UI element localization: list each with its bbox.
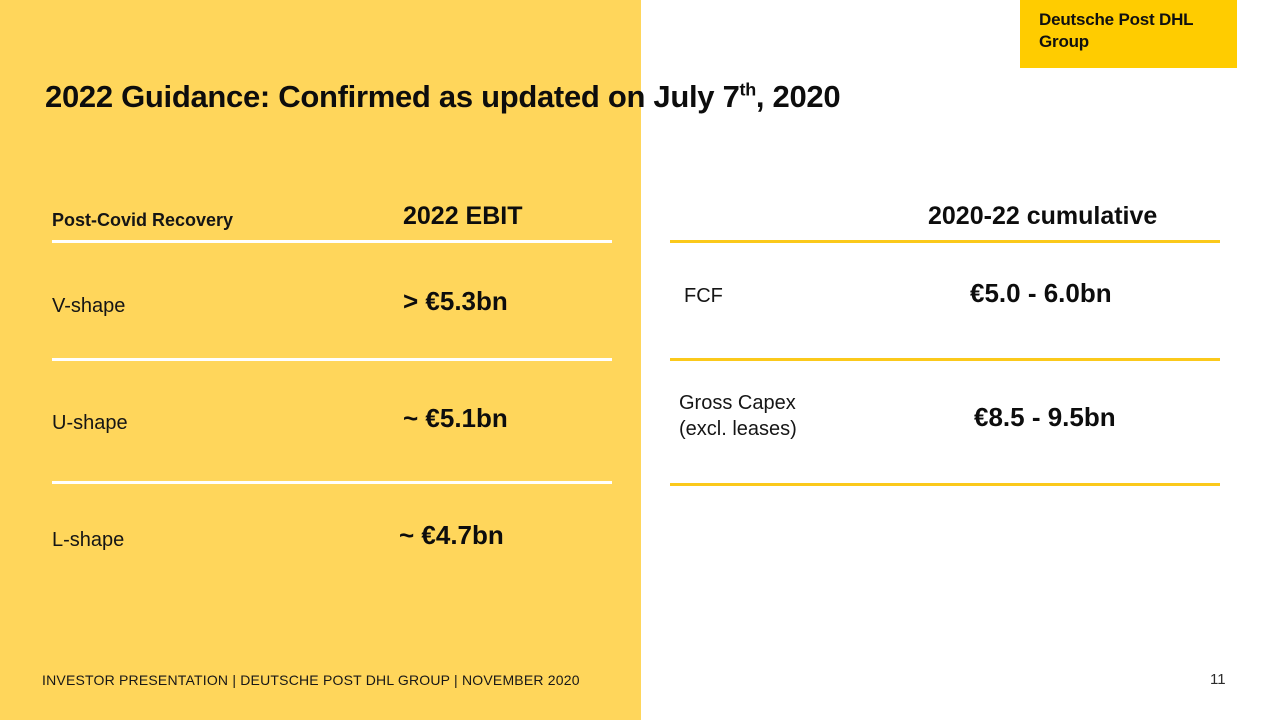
left-divider-1 (52, 481, 612, 484)
footer-text: INVESTOR PRESENTATION | DEUTSCHE POST DH… (42, 672, 580, 688)
left-row-value-1: ~ €5.1bn (403, 403, 508, 434)
left-divider-header (52, 240, 612, 243)
right-table-header-value: 2020-22 cumulative (928, 202, 1157, 231)
dhl-logo: Deutsche Post DHL Group (1020, 0, 1237, 68)
left-table-header-label: Post-Covid Recovery (52, 210, 612, 231)
left-row-value-2: ~ €4.7bn (399, 520, 504, 551)
page-title-main: 2022 Guidance: Confirmed as updated on J… (45, 79, 740, 114)
right-row-label-1: Gross Capex (excl. leases) (679, 390, 797, 443)
left-row-label-0: V-shape (52, 293, 612, 319)
page-title-tail: , 2020 (756, 79, 840, 114)
right-divider-header (670, 240, 1220, 243)
right-divider-1 (670, 483, 1220, 486)
logo-text: Deutsche Post DHL Group (1039, 9, 1229, 53)
left-table-header-value: 2022 EBIT (403, 202, 523, 231)
right-row-label-1-line2: (excl. leases) (679, 416, 797, 442)
right-row-value-1: €8.5 - 9.5bn (974, 402, 1116, 433)
right-row-value-0: €5.0 - 6.0bn (970, 278, 1112, 309)
right-row-label-0: FCF (684, 283, 723, 309)
left-divider-0 (52, 358, 612, 361)
right-divider-0 (670, 358, 1220, 361)
right-row-label-1-line1: Gross Capex (679, 390, 797, 416)
page-title: 2022 Guidance: Confirmed as updated on J… (45, 79, 840, 115)
left-row-value-0: > €5.3bn (403, 286, 508, 317)
left-row-label-2: L-shape (52, 527, 612, 553)
page-number: 11 (1210, 671, 1226, 688)
left-row-label-1: U-shape (52, 410, 612, 436)
page-title-superscript: th (740, 80, 756, 100)
slide: Deutsche Post DHL Group 2022 Guidance: C… (0, 0, 1280, 720)
